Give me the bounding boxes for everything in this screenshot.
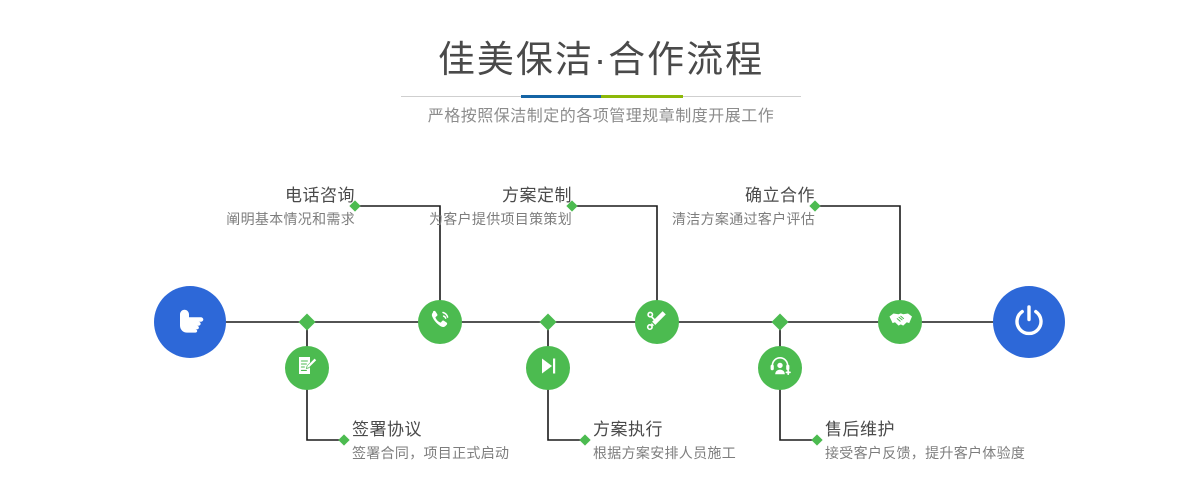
phone-call-icon [427, 307, 453, 338]
label-diamond-markers [338, 200, 822, 445]
step-label-6: 售后维护 接受客户反馈，提升客户体验度 [825, 419, 1155, 463]
divider-segment-blue [521, 95, 601, 98]
step-title-6: 售后维护 [825, 419, 1155, 441]
power-button-icon [1009, 300, 1049, 345]
step-node-6[interactable] [758, 346, 802, 390]
step-label-5: 确立合作 清洁方案通过客户评估 [515, 185, 815, 229]
document-edit-icon [294, 353, 320, 384]
page-title: 佳美保洁·合作流程 [0, 38, 1202, 82]
pen-ruler-icon [644, 307, 670, 338]
step-title-5: 确立合作 [515, 185, 815, 207]
handshake-icon [887, 306, 914, 338]
title-divider [401, 95, 801, 98]
process-flow-diagram: 电话咨询 阐明基本情况和需求 签署协议 签署合同，项目正式启动 [0, 150, 1202, 502]
step-node-1[interactable] [418, 300, 462, 344]
pointing-hand-icon [170, 300, 210, 345]
page-subtitle: 严格按照保洁制定的各项管理规章制度开展工作 [0, 106, 1202, 128]
step-node-3[interactable] [635, 300, 679, 344]
step-node-2[interactable] [285, 346, 329, 390]
flow-end-endpoint[interactable] [993, 286, 1065, 358]
page-header: 佳美保洁·合作流程 严格按照保洁制定的各项管理规章制度开展工作 [0, 0, 1202, 150]
customer-service-add-icon [767, 353, 793, 384]
flow-start-endpoint[interactable] [154, 286, 226, 358]
step-desc-5: 清洁方案通过客户评估 [515, 209, 815, 229]
step-node-5[interactable] [878, 300, 922, 344]
play-execute-icon [535, 353, 561, 384]
step-node-4[interactable] [526, 346, 570, 390]
divider-segment-green [601, 95, 683, 98]
step-desc-6: 接受客户反馈，提升客户体验度 [825, 443, 1155, 463]
